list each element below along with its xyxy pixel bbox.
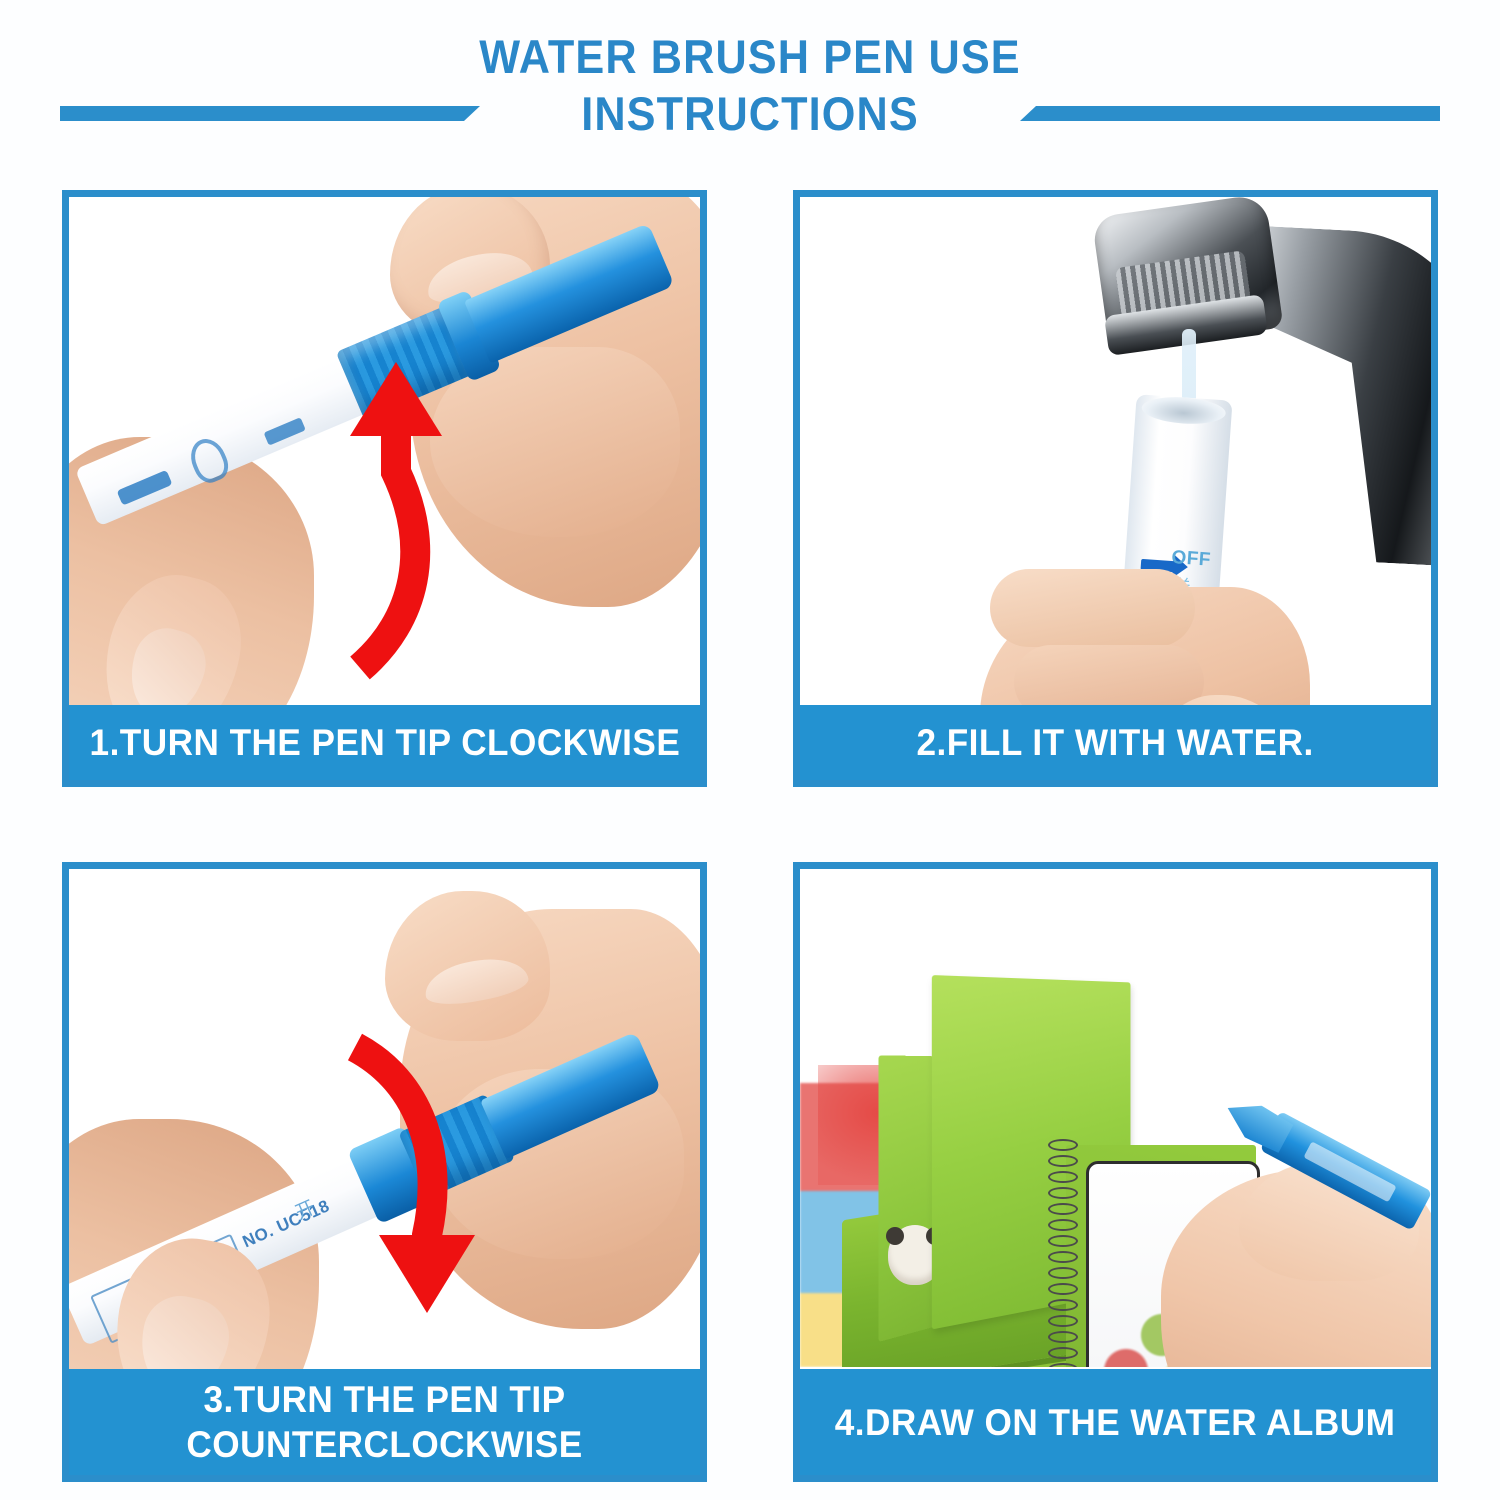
middle-finger	[1014, 645, 1204, 705]
pen-icon-mark	[185, 433, 233, 487]
step-2-caption-line-1: 2.FILL IT WITH WATER.	[917, 720, 1314, 765]
step-4-photo	[800, 869, 1431, 1367]
step-3-photo: NO. UC518 开	[69, 869, 700, 1369]
step-3-caption: 3.TURN THE PEN TIP COUNTERCLOCKWISE	[69, 1369, 700, 1475]
step-2-photo: OFF 关	[800, 197, 1431, 705]
page-title-line-2: INSTRUCTIONS	[60, 85, 1440, 142]
step-2-caption: 2.FILL IT WITH WATER.	[800, 705, 1431, 780]
step-4-caption-line-1: 4.DRAW ON THE WATER ALBUM	[835, 1400, 1396, 1445]
page-title: WATER BRUSH PEN USE INSTRUCTIONS	[0, 28, 1500, 142]
infographic-page: WATER BRUSH PEN USE INSTRUCTIONS	[0, 0, 1500, 1500]
step-panel-1: 1.TURN THE PEN TIP CLOCKWISE	[62, 190, 707, 787]
step-panel-3: NO. UC518 开 3.TURN THE PEN TIP COUNTERCL…	[62, 862, 707, 1482]
rotation-arrow-clockwise-icon	[264, 352, 504, 682]
step-1-caption-line-1: 1.TURN THE PEN TIP CLOCKWISE	[89, 720, 680, 765]
step-panel-2: OFF 关 2.FILL IT WITH WATER.	[793, 190, 1438, 787]
album-spiral-binding	[1048, 1139, 1074, 1367]
pen-label-off: OFF	[1171, 547, 1212, 572]
step-4-caption: 4.DRAW ON THE WATER ALBUM	[800, 1369, 1431, 1475]
index-finger	[990, 569, 1195, 647]
step-3-caption-line-2: COUNTERCLOCKWISE	[186, 1422, 582, 1467]
step-1-caption: 1.TURN THE PEN TIP CLOCKWISE	[69, 705, 700, 780]
rotation-arrow-counterclockwise-icon	[319, 1029, 559, 1319]
page-title-line-1: WATER BRUSH PEN USE	[60, 28, 1440, 85]
pen-logo-mark	[117, 470, 173, 506]
step-3-caption-line-1: 3.TURN THE PEN TIP	[186, 1377, 582, 1422]
header: WATER BRUSH PEN USE INSTRUCTIONS	[0, 28, 1500, 153]
step-1-photo	[69, 197, 700, 705]
step-panel-4: 4.DRAW ON THE WATER ALBUM	[793, 862, 1438, 1482]
